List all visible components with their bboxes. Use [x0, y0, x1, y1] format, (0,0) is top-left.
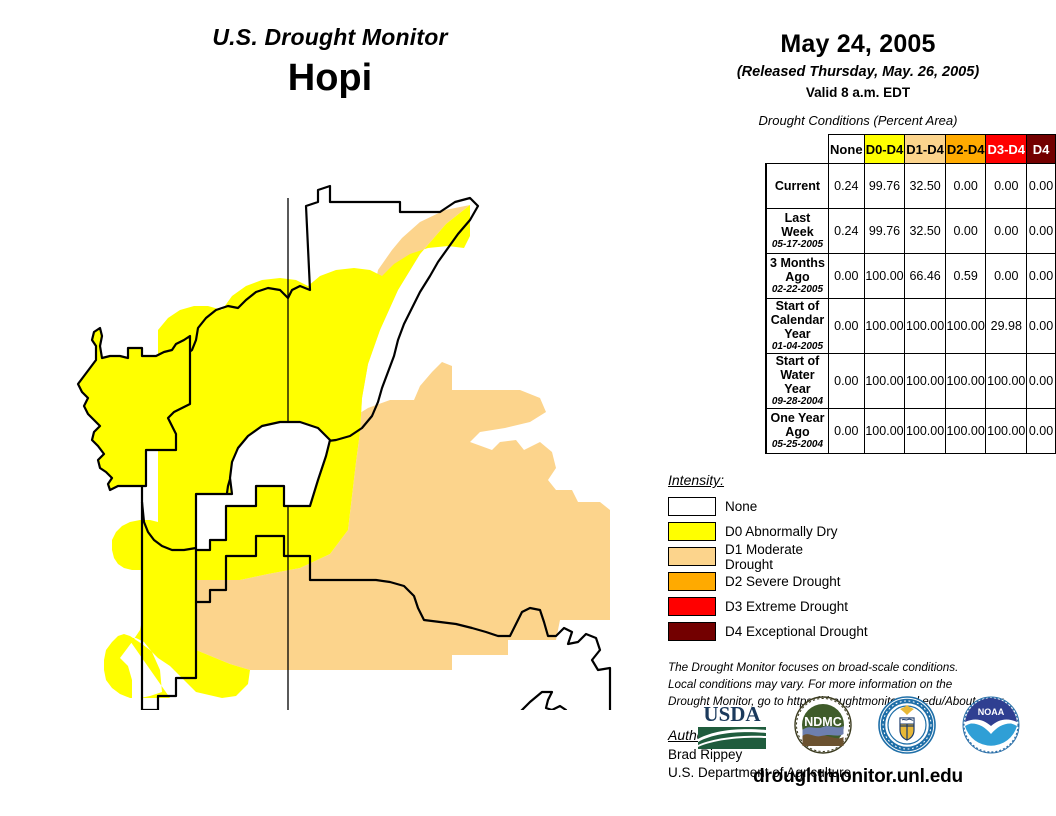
legend-item: D4 Exceptional Drought: [668, 619, 868, 644]
usdc-seal-logo: [878, 696, 936, 754]
table-cell-d4: 0.00: [1027, 164, 1056, 209]
table-header-row: NoneD0-D4D1-D4D2-D4D3-D4D4: [766, 135, 1056, 164]
table-cell-d3-d4: 100.00: [986, 409, 1027, 454]
legend-item: D2 Severe Drought: [668, 569, 868, 594]
valid-time: Valid 8 a.m. EDT: [660, 85, 1056, 100]
legend-label: None: [725, 499, 757, 514]
table-caption: Drought Conditions (Percent Area): [660, 113, 1056, 128]
row-label-text: Start ofWater Year: [767, 354, 828, 396]
noaa-logo: NOAA: [962, 696, 1020, 754]
table-cell-d0-d4: 99.76: [864, 209, 905, 254]
row-label-date: 02-22-2005: [767, 284, 828, 296]
legend-column-left: NoneD0 Abnormally DryD1 Moderate Drought: [668, 494, 848, 569]
table-cell-d4: 0.00: [1027, 409, 1056, 454]
region-title: Hopi: [0, 59, 660, 97]
usda-logo: USDA: [696, 699, 768, 751]
table-cell-d2-d4: 100.00: [945, 354, 986, 409]
table-cell-none: 0.24: [828, 209, 864, 254]
legend-swatch: [668, 622, 716, 641]
table-row: 3 Months Ago02-22-20050.00100.0066.460.5…: [766, 254, 1056, 299]
table-row-label: One Year Ago05-25-2004: [766, 409, 828, 454]
table-cell-d1-d4: 100.00: [905, 409, 946, 454]
table-corner-cell: [766, 135, 828, 164]
map-area-none-southeast: [486, 692, 578, 710]
table-cell-d1-d4: 100.00: [905, 299, 946, 354]
table-cell-d4: 0.00: [1027, 299, 1056, 354]
table-cell-d1-d4: 66.46: [905, 254, 946, 299]
table-row: Start ofCalendar Year01-04-20050.00100.0…: [766, 299, 1056, 354]
table-cell-d2-d4: 0.00: [945, 164, 986, 209]
row-label-date: 05-25-2004: [767, 439, 828, 451]
right-panel: May 24, 2005 (Released Thursday, May. 26…: [660, 0, 1056, 816]
legend-heading: Intensity:: [668, 472, 1056, 488]
footer-url[interactable]: droughtmonitor.unl.edu: [660, 766, 1056, 788]
svg-text:NOAA: NOAA: [978, 707, 1005, 717]
table-cell-d4: 0.00: [1027, 354, 1056, 409]
table-cell-d3-d4: 0.00: [986, 254, 1027, 299]
table-row-label: Current: [766, 164, 828, 209]
table-cell-d1-d4: 100.00: [905, 354, 946, 409]
row-label-date: 05-17-2005: [767, 239, 828, 251]
table-row: Start ofWater Year09-28-20040.00100.0010…: [766, 354, 1056, 409]
svg-text:NDMC: NDMC: [804, 715, 842, 729]
table-cell-d4: 0.00: [1027, 254, 1056, 299]
legend-label: D0 Abnormally Dry: [725, 524, 838, 539]
table-row-label: Start ofWater Year09-28-2004: [766, 354, 828, 409]
legend-item: None: [668, 494, 848, 519]
table-cell-d2-d4: 100.00: [945, 299, 986, 354]
table-cell-none: 0.24: [828, 164, 864, 209]
table-cell-d2-d4: 0.59: [945, 254, 986, 299]
table-col-header-d4: D4: [1027, 135, 1056, 164]
legend-item: D3 Extreme Drought: [668, 594, 868, 619]
table-cell-d3-d4: 29.98: [986, 299, 1027, 354]
table-row: One Year Ago05-25-20040.00100.00100.0010…: [766, 409, 1056, 454]
table-col-header-none: None: [828, 135, 864, 164]
legend-item: D1 Moderate Drought: [668, 544, 848, 569]
legend-swatch: [668, 497, 716, 516]
table-cell-d1-d4: 32.50: [905, 209, 946, 254]
table-body: Current0.2499.7632.500.000.000.00Last We…: [766, 164, 1056, 454]
legend-label: D1 Moderate Drought: [725, 542, 848, 572]
row-label-date: 01-04-2005: [767, 341, 828, 353]
table-cell-none: 0.00: [828, 409, 864, 454]
table-cell-d0-d4: 100.00: [864, 354, 905, 409]
svg-text:USDA: USDA: [703, 702, 761, 726]
legend-item: D0 Abnormally Dry: [668, 519, 848, 544]
table-col-header-d3-d4: D3-D4: [986, 135, 1027, 164]
table-row: Current0.2499.7632.500.000.000.00: [766, 164, 1056, 209]
map-panel: U.S. Drought Monitor Hopi: [0, 0, 660, 816]
table-cell-d0-d4: 99.76: [864, 164, 905, 209]
table-cell-none: 0.00: [828, 354, 864, 409]
ndmc-logo: NDMC: [794, 696, 852, 754]
table-cell-none: 0.00: [828, 254, 864, 299]
legend: NoneD0 Abnormally DryD1 Moderate Drought…: [668, 494, 1048, 644]
date-block: May 24, 2005 (Released Thursday, May. 26…: [660, 0, 1056, 100]
table-cell-d2-d4: 100.00: [945, 409, 986, 454]
legend-column-right: D2 Severe DroughtD3 Extreme DroughtD4 Ex…: [668, 569, 868, 644]
table-cell-d4: 0.00: [1027, 209, 1056, 254]
table-row: Last Week05-17-20050.2499.7632.500.000.0…: [766, 209, 1056, 254]
table-col-header-d2-d4: D2-D4: [945, 135, 986, 164]
row-label-text: One Year Ago: [767, 411, 828, 439]
table-cell-d0-d4: 100.00: [864, 254, 905, 299]
release-date: (Released Thursday, May. 26, 2005): [660, 64, 1056, 80]
report-date: May 24, 2005: [660, 30, 1056, 59]
table-cell-d3-d4: 100.00: [986, 354, 1027, 409]
map-title-block: U.S. Drought Monitor Hopi: [0, 24, 660, 97]
row-label-text: Start ofCalendar Year: [767, 299, 828, 341]
table-row-label: 3 Months Ago02-22-2005: [766, 254, 828, 299]
legend-swatch: [668, 572, 716, 591]
table-cell-d2-d4: 0.00: [945, 209, 986, 254]
page-title: U.S. Drought Monitor: [0, 24, 660, 51]
row-label-text: 3 Months Ago: [767, 256, 828, 284]
table-row-label: Last Week05-17-2005: [766, 209, 828, 254]
legend-label: D2 Severe Drought: [725, 574, 841, 589]
logo-row: USDA NDMC: [660, 690, 1056, 760]
drought-conditions-table: NoneD0-D4D1-D4D2-D4D3-D4D4 Current0.2499…: [765, 134, 1056, 454]
legend-swatch: [668, 547, 716, 566]
table-cell-none: 0.00: [828, 299, 864, 354]
row-label-date: 09-28-2004: [767, 396, 828, 408]
note-line-1: The Drought Monitor focuses on broad-sca…: [668, 660, 1056, 677]
table-row-label: Start ofCalendar Year01-04-2005: [766, 299, 828, 354]
table-col-header-d0-d4: D0-D4: [864, 135, 905, 164]
row-label-text: Last Week: [767, 211, 828, 239]
legend-swatch: [668, 597, 716, 616]
table-cell-d1-d4: 32.50: [905, 164, 946, 209]
table-cell-d3-d4: 0.00: [986, 164, 1027, 209]
table-cell-d3-d4: 0.00: [986, 209, 1027, 254]
drought-map[interactable]: [0, 150, 660, 710]
legend-label: D4 Exceptional Drought: [725, 624, 868, 639]
legend-swatch: [668, 522, 716, 541]
legend-label: D3 Extreme Drought: [725, 599, 848, 614]
table-cell-d0-d4: 100.00: [864, 299, 905, 354]
row-label-text: Current: [767, 179, 828, 193]
table-cell-d0-d4: 100.00: [864, 409, 905, 454]
table-col-header-d1-d4: D1-D4: [905, 135, 946, 164]
